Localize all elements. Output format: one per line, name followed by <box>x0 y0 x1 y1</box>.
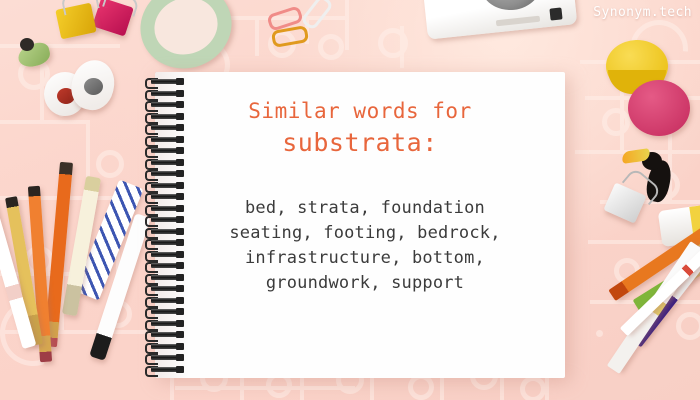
spiral-ring <box>145 366 187 373</box>
note-heading-line2: substrata: <box>155 128 565 157</box>
spiral-ring <box>145 78 187 85</box>
spiral-ring <box>145 297 187 304</box>
spiral-ring <box>145 170 187 177</box>
site-logo: Synonym.tech <box>593 5 692 20</box>
synonym-line-1: bed, strata, foundation <box>175 196 555 221</box>
screenshot-root: Similar words for substrata: bed, strata… <box>0 0 700 400</box>
synonym-line-4: groundwork, support <box>175 271 555 296</box>
spiral-ring <box>145 182 187 189</box>
spiral-ring <box>145 331 187 338</box>
spiral-ring <box>145 308 187 315</box>
eraser-gray-center <box>84 78 103 95</box>
spiral-ring <box>145 159 187 166</box>
synonym-word-list: bed, strata, foundationseating, footing,… <box>175 196 555 296</box>
macaron-pink <box>628 80 690 136</box>
spiral-ring <box>145 354 187 361</box>
bird-figurine-head <box>20 38 34 51</box>
spiral-ring <box>145 343 187 350</box>
synonym-line-2: seating, footing, bedrock, <box>175 221 555 246</box>
spiral-ring <box>145 320 187 327</box>
spiral-ring <box>145 90 187 97</box>
note-heading-line1: Similar words for <box>155 99 565 123</box>
synonym-line-3: infrastructure, bottom, <box>175 246 555 271</box>
camera-button <box>549 7 562 20</box>
